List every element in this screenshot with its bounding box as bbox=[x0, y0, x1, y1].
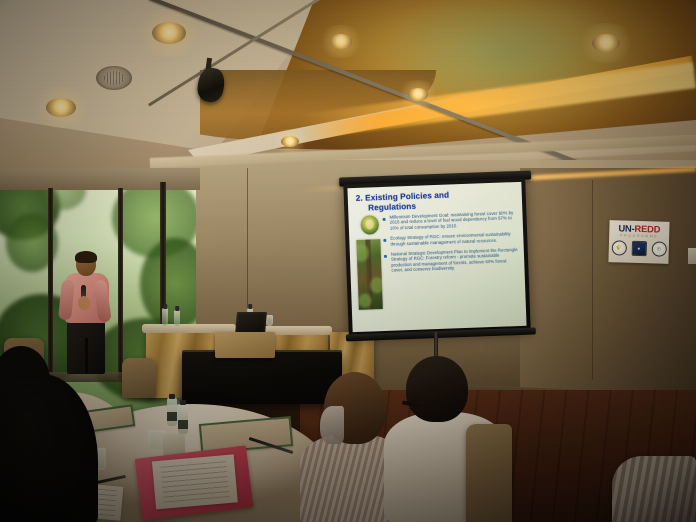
slide-bullet-text: Ecology Strategy of RGC: ensure environm… bbox=[390, 231, 518, 246]
projected-slide: 2. Existing Policies and Regulations Mil… bbox=[347, 182, 526, 332]
attendee-grey-hair bbox=[320, 406, 344, 444]
slide-bullet-item: National Strategic Development Plan to i… bbox=[384, 247, 520, 274]
right-wall bbox=[520, 168, 696, 396]
presenter-hair bbox=[75, 251, 97, 263]
slide-title: 2. Existing Policies and Regulations bbox=[356, 188, 507, 213]
projection-screen: 2. Existing Policies and Regulations Mil… bbox=[343, 178, 530, 337]
secondary-wall-poster bbox=[688, 248, 696, 264]
chair-back bbox=[122, 358, 156, 398]
water-bottle-icon bbox=[174, 310, 180, 326]
poster-title-redd: REDD bbox=[634, 223, 660, 235]
fao-logo-icon: 🌾 bbox=[611, 240, 626, 255]
presenter-leg-gap bbox=[85, 338, 88, 374]
slide-bullet-list: Millennium Development Goal: maintaining… bbox=[382, 210, 519, 279]
coat-of-arms-emblem-icon bbox=[360, 215, 379, 235]
presenter-hand bbox=[78, 296, 90, 310]
slide-bullet-text: Millennium Development Goal: maintaining… bbox=[389, 210, 518, 231]
un-redd-poster: UN-REDD PROGRAMME 🌾 ● ☉ bbox=[608, 220, 669, 264]
downlight-icon bbox=[330, 34, 352, 49]
bottle-label bbox=[178, 420, 188, 429]
document-text-lines bbox=[161, 461, 230, 503]
unep-logo-icon: ☉ bbox=[651, 241, 666, 256]
downlight-icon bbox=[152, 22, 186, 44]
presenter bbox=[58, 252, 114, 374]
presentation-laptop-screen bbox=[235, 312, 267, 334]
document-page bbox=[152, 454, 238, 509]
forest-photo bbox=[356, 239, 383, 310]
chair-back bbox=[612, 456, 696, 522]
water-bottle-icon bbox=[162, 308, 168, 326]
drinking-glass-icon bbox=[266, 315, 273, 326]
window-header-beam bbox=[0, 168, 200, 190]
slide-bullet-item: Millennium Development Goal: maintaining… bbox=[382, 210, 518, 231]
foliage-icon bbox=[140, 238, 196, 330]
window-mullion bbox=[118, 188, 123, 378]
bottle-label bbox=[167, 412, 177, 421]
poster-agency-logos: 🌾 ● ☉ bbox=[609, 240, 669, 257]
foliage-icon bbox=[370, 277, 383, 294]
wall-seam bbox=[592, 180, 593, 380]
equipment-box bbox=[215, 332, 275, 358]
attendee-head bbox=[406, 356, 468, 422]
downlight-icon bbox=[281, 136, 299, 147]
slide-bullet-text: National Strategic Development Plan to i… bbox=[391, 247, 520, 273]
downlight-icon bbox=[592, 34, 620, 52]
downlight-icon bbox=[46, 98, 76, 117]
window-mullion bbox=[48, 188, 53, 378]
ceiling-air-vent-icon bbox=[96, 66, 132, 90]
poster-subtitle: PROGRAMME bbox=[609, 233, 669, 239]
chair-back bbox=[466, 424, 512, 522]
downlight-icon bbox=[408, 88, 428, 101]
photo-scene: 2. Existing Policies and Regulations Mil… bbox=[0, 0, 696, 522]
poster-title-un: UN- bbox=[618, 222, 634, 233]
undp-logo-icon: ● bbox=[631, 241, 646, 256]
slide-bullet-item: Ecology Strategy of RGC: ensure environm… bbox=[383, 231, 518, 247]
water-bottle-icon bbox=[178, 404, 188, 434]
